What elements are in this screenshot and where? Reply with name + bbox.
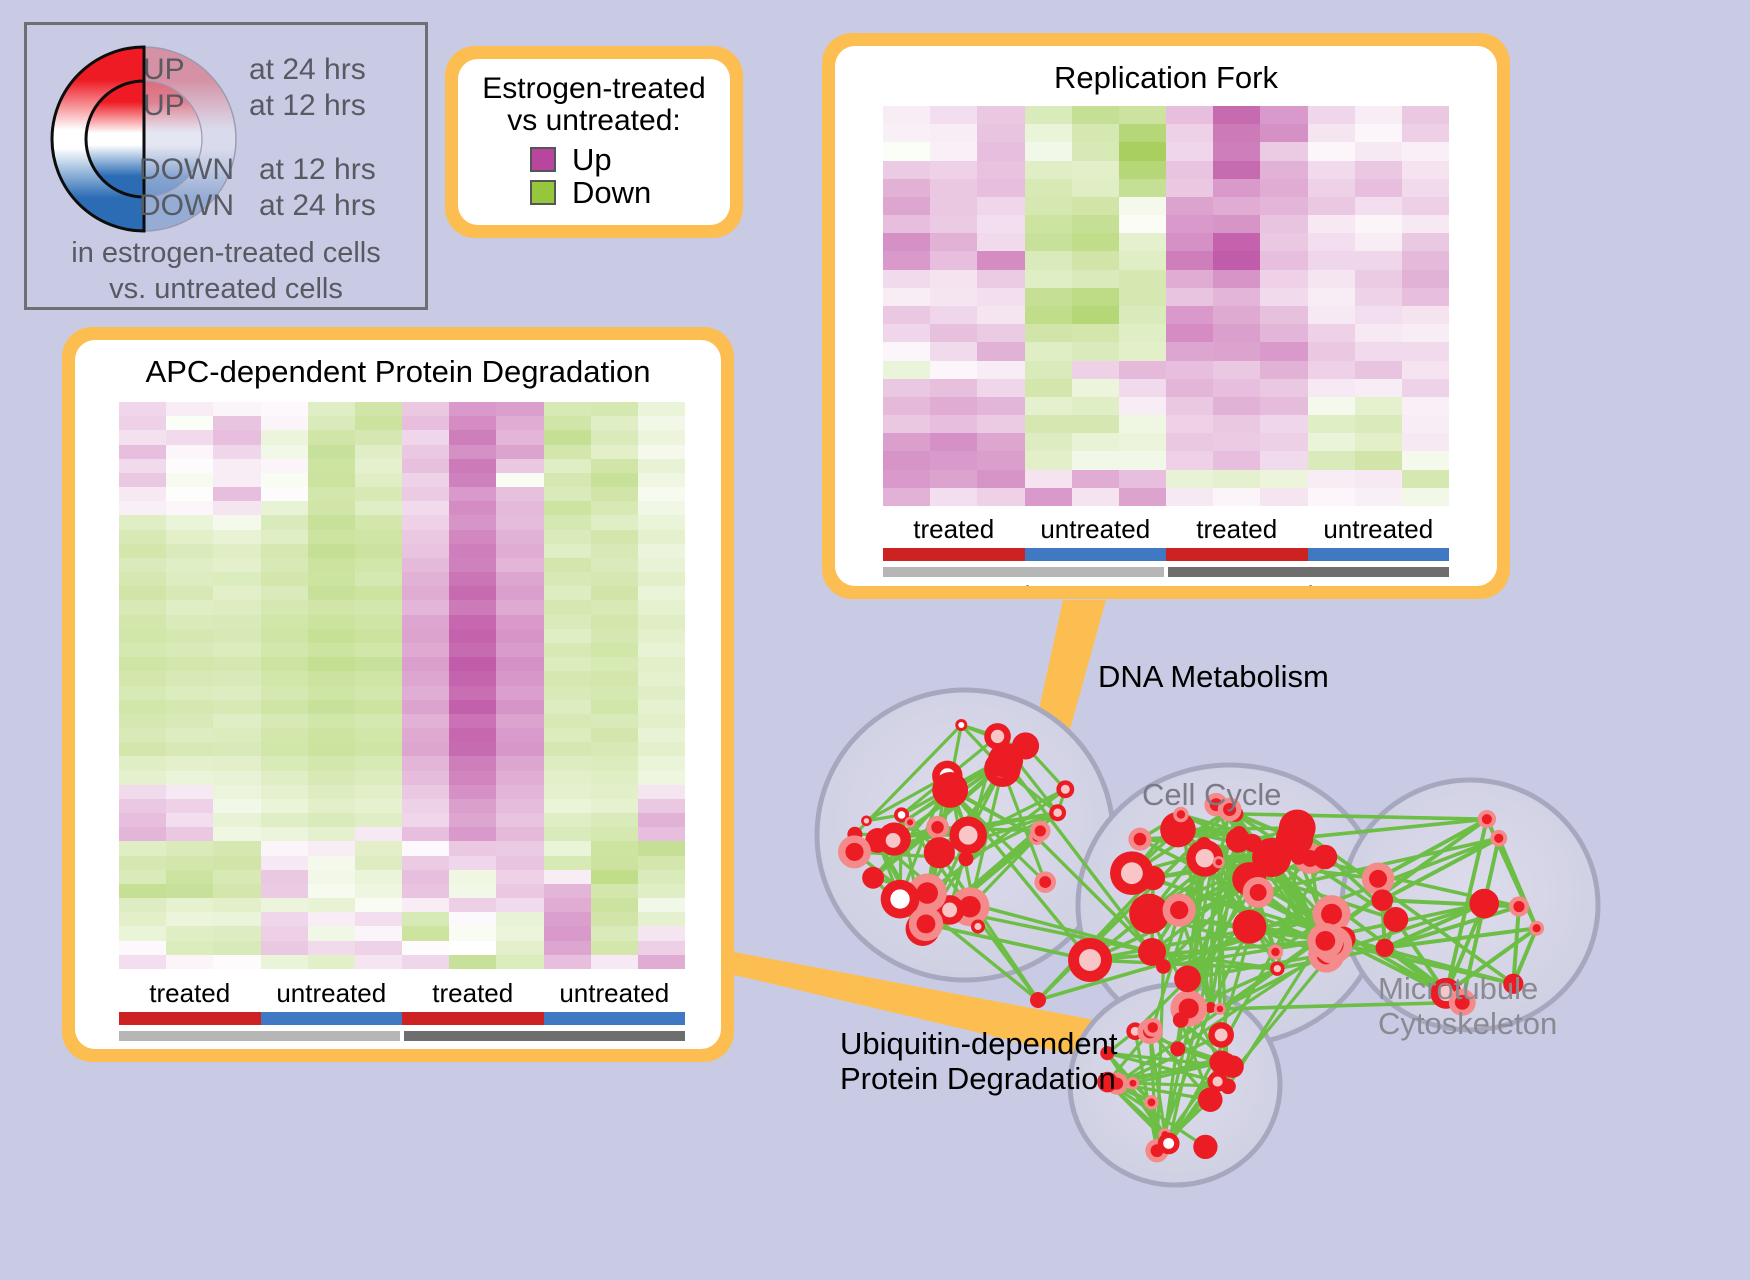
heatmap-cell <box>496 756 543 770</box>
heatmap-cell <box>1355 433 1402 451</box>
heatmap-cell <box>355 671 402 685</box>
heatmap-cell <box>449 771 496 785</box>
heatmap-cell <box>883 379 930 397</box>
heatmap-cell <box>496 941 543 955</box>
heatmap-cell <box>591 771 638 785</box>
heatmap-cell <box>119 714 166 728</box>
heatmap-cell <box>119 544 166 558</box>
heatmap-cell <box>1166 179 1213 197</box>
time-label-24: 24 hrs <box>1166 581 1449 586</box>
heatmap-cell <box>449 742 496 756</box>
heatmap-cell <box>1355 142 1402 160</box>
heatmap-cell <box>496 615 543 629</box>
heatmap-cell <box>166 700 213 714</box>
heatmap-cell <box>1025 379 1072 397</box>
network-node <box>926 816 949 839</box>
network-node <box>1478 810 1496 828</box>
heatmap-cell <box>638 402 685 416</box>
heatmap-cell <box>402 700 449 714</box>
heatmap-cell <box>355 459 402 473</box>
heatmap-cell <box>544 473 591 487</box>
heatmap-cell <box>402 572 449 586</box>
time-labels: 12 hrs 24 hrs <box>119 1045 685 1049</box>
heatmap-cell <box>638 742 685 756</box>
heatmap-cell <box>1402 197 1449 215</box>
heatmap-cell <box>1308 451 1355 469</box>
heatmap-cell <box>1119 161 1166 179</box>
heatmap-cell <box>1308 415 1355 433</box>
heatmap-cell <box>496 714 543 728</box>
heatmap-cell <box>1260 233 1307 251</box>
heatmap-cell <box>261 402 308 416</box>
heatmap-cell <box>213 898 260 912</box>
heatmap-cell <box>1025 270 1072 288</box>
heatmap-cell <box>496 841 543 855</box>
heatmap-cell <box>308 501 355 515</box>
heatmap-cell <box>977 433 1024 451</box>
heatmap-cell <box>591 487 638 501</box>
heatmap-cell <box>119 898 166 912</box>
heatmap-cell <box>544 926 591 940</box>
heatmap-cell <box>308 926 355 940</box>
ring-time-3: at 24 hrs <box>259 189 376 223</box>
heatmap-cell <box>883 306 930 324</box>
heatmap-cell <box>544 572 591 586</box>
heatmap-cell <box>1402 251 1449 269</box>
heatmap-cell <box>1072 433 1119 451</box>
heatmap-cell <box>1355 361 1402 379</box>
heatmap-cell <box>355 912 402 926</box>
heatmap-cell <box>591 657 638 671</box>
heatmap-cell <box>496 629 543 643</box>
heatmap-cell <box>213 643 260 657</box>
heatmap-cell <box>883 142 930 160</box>
heatmap-cell <box>930 197 977 215</box>
heatmap-cell <box>308 671 355 685</box>
heatmap-cell <box>355 686 402 700</box>
heatmap-cell <box>591 501 638 515</box>
heatmap-cell <box>496 785 543 799</box>
heatmap-cell <box>591 813 638 827</box>
heatmap-cell <box>166 813 213 827</box>
heatmap-cell <box>1402 306 1449 324</box>
heatmap-cell <box>119 742 166 756</box>
heatmap-cell <box>1025 124 1072 142</box>
heatmap-cell <box>1025 215 1072 233</box>
heatmap-cell <box>119 671 166 685</box>
heatmap-cell <box>166 515 213 529</box>
heatmap-cell <box>261 870 308 884</box>
heatmap-cell <box>213 530 260 544</box>
heatmap-cell <box>591 586 638 600</box>
heatmap-cell <box>591 756 638 770</box>
heatmap-cell <box>496 912 543 926</box>
heatmap-cell <box>591 700 638 714</box>
heatmap-cell <box>119 615 166 629</box>
heatmap-cell <box>1166 488 1213 506</box>
network-node <box>1163 893 1196 926</box>
group-label-2: treated <box>1166 514 1308 545</box>
heatmap-cell <box>449 430 496 444</box>
heatmap-cell <box>213 629 260 643</box>
heatmap-cell <box>496 898 543 912</box>
group-label-0: treated <box>883 514 1025 545</box>
heatmap-cell <box>308 643 355 657</box>
heatmap-cell <box>638 600 685 614</box>
heatmap-cell <box>638 912 685 926</box>
heatmap-cell <box>930 124 977 142</box>
heatmap-cell <box>544 515 591 529</box>
heatmap-cell <box>1402 470 1449 488</box>
heatmap-cell <box>166 827 213 841</box>
heatmap-cell <box>449 841 496 855</box>
cluster-label-ubiquitin: Ubiquitin-dependent Protein Degradation <box>840 1027 1118 1096</box>
heatmap-cell <box>1166 251 1213 269</box>
heatmap-cell <box>449 728 496 742</box>
heatmap-cell <box>1213 488 1260 506</box>
heatmap-cell <box>355 771 402 785</box>
heatmap-cell <box>638 898 685 912</box>
heatmap-cell <box>1402 288 1449 306</box>
heatmap-cell <box>1260 433 1307 451</box>
heatmap-cell <box>638 870 685 884</box>
heatmap-cell <box>308 856 355 870</box>
heatmap-cell <box>449 459 496 473</box>
heatmap-cell <box>119 799 166 813</box>
heatmap-cell <box>1213 124 1260 142</box>
heatmap-cell <box>496 657 543 671</box>
heatmap-cell <box>402 558 449 572</box>
heatmap-cell <box>1355 324 1402 342</box>
heatmap-cell <box>1355 215 1402 233</box>
ring-time-2: at 12 hrs <box>259 153 376 187</box>
heatmap-cell <box>402 856 449 870</box>
heatmap-cell <box>261 841 308 855</box>
time-label-12: 12 hrs <box>883 581 1166 586</box>
heatmap-cell <box>591 926 638 940</box>
heatmap-cell <box>1025 288 1072 306</box>
heatmap-cell <box>449 912 496 926</box>
network-node <box>1143 1018 1162 1037</box>
heatmap-cell <box>496 402 543 416</box>
heatmap-cell <box>355 657 402 671</box>
network-node <box>1274 847 1286 859</box>
heatmap-cell <box>1072 233 1119 251</box>
heatmap-cell <box>930 361 977 379</box>
heatmap-cell <box>930 433 977 451</box>
heatmap-cell <box>166 600 213 614</box>
heatmap-cell <box>449 813 496 827</box>
heatmap-cell <box>213 926 260 940</box>
heatmap-cell <box>591 955 638 969</box>
time-label-12: 12 hrs <box>119 1045 402 1049</box>
heatmap-cell <box>883 124 930 142</box>
heatmap-cell <box>261 558 308 572</box>
heatmap-cell <box>261 530 308 544</box>
heatmap-cell <box>544 941 591 955</box>
heatmap-cell <box>496 926 543 940</box>
heatmap-cell <box>496 445 543 459</box>
heatmap-cell <box>1213 306 1260 324</box>
heatmap-cell <box>261 728 308 742</box>
heatmap-cell <box>638 586 685 600</box>
heatmap-cell <box>544 827 591 841</box>
protein-interaction-network: DNA Metabolism Cell Cycle Microtubule Cy… <box>780 600 1740 1275</box>
network-node <box>1174 965 1201 992</box>
heatmap-cell <box>355 501 402 515</box>
heatmap-cell <box>308 473 355 487</box>
heatmap-cell <box>638 771 685 785</box>
heatmap-cell <box>930 397 977 415</box>
heatmap-cell <box>166 941 213 955</box>
heatmap-cell <box>213 813 260 827</box>
heatmap-cell <box>402 402 449 416</box>
heatmap-cell <box>261 615 308 629</box>
heatmap-cell <box>1260 488 1307 506</box>
bar-treated-24 <box>1166 548 1308 561</box>
network-node <box>909 907 943 941</box>
heatmap-cell <box>1025 415 1072 433</box>
heatmap-cell <box>213 416 260 430</box>
heatmap-cell <box>638 445 685 459</box>
heatmap-cell <box>930 415 977 433</box>
heatmap-cell <box>1072 488 1119 506</box>
heatmap-cell <box>261 600 308 614</box>
heatmap-cell <box>1308 197 1355 215</box>
heatmap-cell <box>402 926 449 940</box>
heatmap-cell <box>1119 306 1166 324</box>
heatmap-cell <box>1119 142 1166 160</box>
group-label-3: untreated <box>1308 514 1450 545</box>
heatmap-cell <box>1025 233 1072 251</box>
heatmap-cell <box>355 941 402 955</box>
heatmap-cell <box>261 629 308 643</box>
heatmap-cell <box>638 686 685 700</box>
network-node <box>1034 871 1056 893</box>
heatmap-cell <box>402 728 449 742</box>
heatmap-cell <box>1025 342 1072 360</box>
heatmap-cell <box>930 215 977 233</box>
heatmap-cell <box>1260 306 1307 324</box>
heatmap-cell <box>119 459 166 473</box>
heatmap-cell <box>355 714 402 728</box>
heatmap-cell <box>261 515 308 529</box>
network-node <box>1291 849 1307 865</box>
heatmap-cell <box>213 671 260 685</box>
heatmap-cell <box>591 445 638 459</box>
heatmap-cell <box>1166 197 1213 215</box>
group-labels: treated untreated treated untreated <box>119 978 685 1009</box>
heatmap-cell <box>1260 161 1307 179</box>
heatmap-cell <box>402 686 449 700</box>
heatmap-cell <box>1119 433 1166 451</box>
heatmap-cell <box>977 215 1024 233</box>
heatmap-cell <box>119 430 166 444</box>
heatmap-cell <box>213 657 260 671</box>
ring-state-2: DOWN <box>139 153 234 187</box>
heatmap-cell <box>1260 251 1307 269</box>
heatmap-cell <box>1166 288 1213 306</box>
heatmap-cell <box>1166 142 1213 160</box>
heatmap-cell <box>544 402 591 416</box>
heatmap-cell <box>544 813 591 827</box>
network-node <box>1313 845 1338 870</box>
heatmap-cell <box>544 445 591 459</box>
heatmap-cell <box>308 728 355 742</box>
network-node <box>984 723 1011 750</box>
group-labels: treated untreated treated untreated <box>883 514 1449 545</box>
heatmap-cell <box>402 898 449 912</box>
heatmap-cell <box>261 813 308 827</box>
heatmap-cell <box>119 870 166 884</box>
legend-label-up: Up <box>572 144 612 175</box>
heatmap-cell <box>638 558 685 572</box>
heatmap-cell <box>449 827 496 841</box>
heatmap-cell <box>402 615 449 629</box>
heatmap-cell <box>355 600 402 614</box>
network-node <box>1383 907 1408 932</box>
heatmap-cell <box>591 615 638 629</box>
ring-time-1: at 12 hrs <box>249 89 366 123</box>
heatmap-cell <box>544 600 591 614</box>
heatmap-cell <box>261 799 308 813</box>
heatmap-cell <box>213 402 260 416</box>
heatmap-cell <box>449 643 496 657</box>
heatmap-cell <box>1072 379 1119 397</box>
heatmap-cell <box>544 728 591 742</box>
heatmap-cell <box>213 700 260 714</box>
heatmap-cell <box>638 785 685 799</box>
heatmap-cell <box>1260 451 1307 469</box>
heatmap-cell <box>1402 179 1449 197</box>
heatmap-cell <box>496 700 543 714</box>
heatmap-cell <box>1260 197 1307 215</box>
heatmap-cell <box>591 841 638 855</box>
heatmap-cell <box>1025 197 1072 215</box>
heatmap-cell <box>213 841 260 855</box>
heatmap-cell <box>1025 470 1072 488</box>
heatmap-cell <box>308 600 355 614</box>
heatmap-cell <box>355 430 402 444</box>
heatmap-cell <box>638 544 685 558</box>
heatmap-cell <box>166 402 213 416</box>
heatmap-cell <box>591 742 638 756</box>
heatmap-cell <box>1119 251 1166 269</box>
heatmap-cell <box>308 813 355 827</box>
heatmap-cell <box>1166 361 1213 379</box>
heatmap-cell <box>449 700 496 714</box>
bar-untreated-24 <box>1308 548 1450 561</box>
heatmap-cell <box>119 629 166 643</box>
heatmap-cell <box>496 416 543 430</box>
heatmap-cell <box>883 415 930 433</box>
heatmap-cell <box>591 459 638 473</box>
heatmap-cell <box>1260 288 1307 306</box>
heatmap-cell <box>544 912 591 926</box>
heatmap-cell <box>166 615 213 629</box>
heatmap-cell <box>1308 142 1355 160</box>
heatmap-cell <box>1355 161 1402 179</box>
heatmap-cell <box>591 558 638 572</box>
heatmap-cell <box>1308 324 1355 342</box>
bar-untreated-12 <box>1025 548 1167 561</box>
heatmap-cell <box>213 827 260 841</box>
heatmap-cell <box>1025 397 1072 415</box>
heatmap-cell <box>308 898 355 912</box>
network-node <box>939 777 964 802</box>
heatmap-cell <box>402 912 449 926</box>
heatmap-cell <box>883 215 930 233</box>
heatmap-cell <box>638 756 685 770</box>
heatmap-cell <box>119 501 166 515</box>
heatmap-cell <box>449 686 496 700</box>
heatmap-cell <box>119 643 166 657</box>
heatmap-cell <box>496 827 543 841</box>
bar-time-12 <box>883 567 1164 577</box>
heatmap-cell <box>402 955 449 969</box>
heatmap-cell <box>1213 470 1260 488</box>
heatmap-cell <box>402 629 449 643</box>
network-node <box>1138 938 1166 966</box>
heatmap-cell <box>1260 397 1307 415</box>
heatmap-cell <box>1308 306 1355 324</box>
heatmap-cell <box>1213 415 1260 433</box>
heatmap-cell <box>883 288 930 306</box>
replication-fork-title: Replication Fork <box>835 60 1497 96</box>
heatmap-cell <box>638 657 685 671</box>
heatmap-cell <box>496 771 543 785</box>
heatmap-cell <box>1119 288 1166 306</box>
heatmap-cell <box>402 530 449 544</box>
heatmap-cell <box>1119 488 1166 506</box>
heatmap-cell <box>449 586 496 600</box>
heatmap-cell <box>591 515 638 529</box>
heatmap-cell <box>261 756 308 770</box>
heatmap-cell <box>496 955 543 969</box>
heatmap-cell <box>977 488 1024 506</box>
heatmap-cell <box>1166 470 1213 488</box>
heatmap-cell <box>1119 197 1166 215</box>
heatmap-cell <box>1025 361 1072 379</box>
heatmap-cell <box>166 445 213 459</box>
network-node <box>949 817 987 855</box>
network-node <box>1127 1077 1139 1089</box>
heatmap-cell <box>638 416 685 430</box>
heatmap-cell <box>355 643 402 657</box>
heatmap-cell <box>308 416 355 430</box>
ring-state-0: UP <box>143 53 185 87</box>
heatmap-cell <box>1260 361 1307 379</box>
heatmap-cell <box>261 742 308 756</box>
heatmap-cell <box>977 179 1024 197</box>
heatmap-cell <box>544 686 591 700</box>
heatmap-cell <box>213 515 260 529</box>
network-node <box>1170 1041 1185 1056</box>
bar-untreated-12 <box>261 1012 403 1025</box>
network-node <box>1158 1133 1180 1155</box>
heatmap-cell <box>261 898 308 912</box>
heatmap-cell <box>355 445 402 459</box>
heatmap-cell <box>355 756 402 770</box>
heatmap-cell <box>977 470 1024 488</box>
heatmap-cell <box>1402 142 1449 160</box>
heatmap-cell <box>119 558 166 572</box>
group-label-1: untreated <box>1025 514 1167 545</box>
heatmap-cell <box>402 742 449 756</box>
heatmap-cell <box>638 430 685 444</box>
heatmap-cell <box>544 742 591 756</box>
heatmap-cell <box>1355 342 1402 360</box>
